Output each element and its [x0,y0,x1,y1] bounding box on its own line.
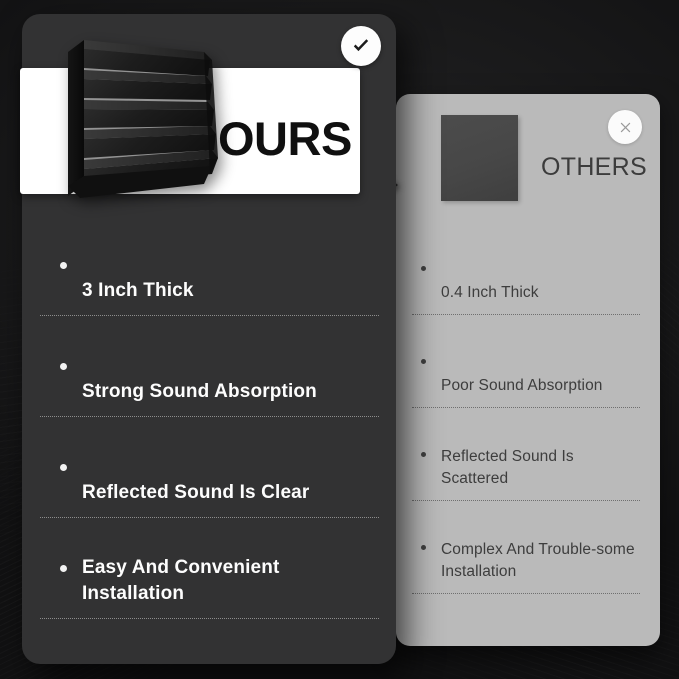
close-icon [617,119,634,136]
bullet-icon [421,359,426,364]
ours-status-badge [341,26,381,66]
ours-feature-text: Reflected Sound Is Clear [82,480,379,506]
others-card: OTHERS 0.4 Inch Thick Poor Sound Absorpt… [396,94,660,646]
others-status-badge [608,110,642,144]
bullet-icon [421,452,426,457]
others-feature-text: Poor Sound Absorption [441,375,640,397]
bullet-icon [60,565,67,572]
bullet-icon [60,262,67,269]
others-title: OTHERS [541,153,647,182]
others-feature-list: 0.4 Inch Thick Poor Sound Absorption Ref… [412,222,640,594]
list-item: Reflected Sound Is Clear [40,417,379,518]
others-feature-text: 0.4 Inch Thick [441,282,640,304]
ours-card: OURS [22,14,396,664]
bullet-icon [421,545,426,550]
list-item: Reflected Sound Is Scattered [412,408,640,501]
ours-feature-text: Strong Sound Absorption [82,379,379,405]
ours-card-header: OURS [22,14,396,214]
bullet-icon [421,266,426,271]
others-feature-text: Complex And Trouble-some Installation [441,539,640,583]
check-icon [350,35,372,57]
acoustic-foam-panel-image [54,24,224,204]
others-card-header: OTHERS [396,94,660,222]
list-item: Complex And Trouble-some Installation [412,501,640,594]
ours-feature-text: 3 Inch Thick [82,278,379,304]
ours-feature-text: Easy And Convenient Installation [82,555,379,607]
others-feature-text: Reflected Sound Is Scattered [441,446,640,490]
flat-gray-panel-image [441,115,518,201]
bullet-icon [60,464,67,471]
list-item: Easy And Convenient Installation [40,518,379,619]
ours-feature-list: 3 Inch Thick Strong Sound Absorption Ref… [40,215,379,619]
list-item: 0.4 Inch Thick [412,222,640,315]
ours-title: OURS [218,111,352,166]
comparison-infographic: OTHERS 0.4 Inch Thick Poor Sound Absorpt… [0,0,679,679]
bullet-icon [60,363,67,370]
list-item: Poor Sound Absorption [412,315,640,408]
list-item: 3 Inch Thick [40,215,379,316]
list-item: Strong Sound Absorption [40,316,379,417]
